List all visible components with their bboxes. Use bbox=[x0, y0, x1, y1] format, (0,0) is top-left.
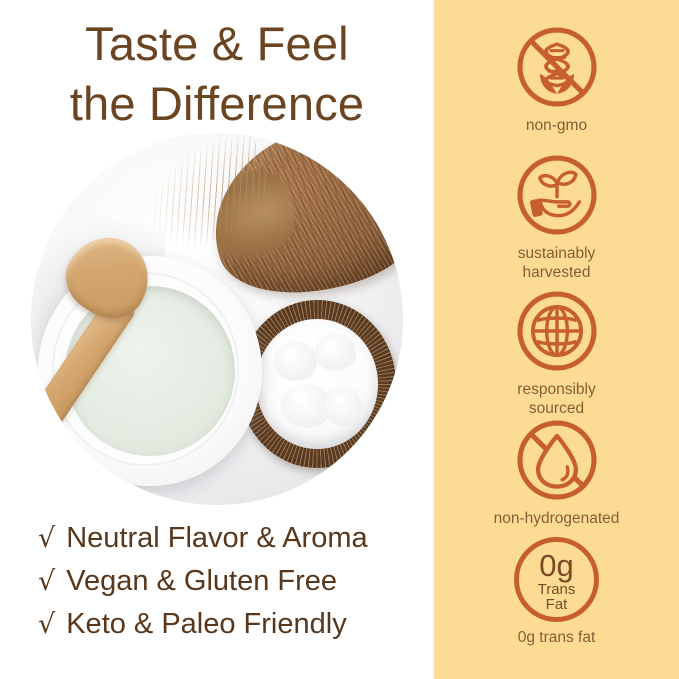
badge-non-gmo: non-gmo bbox=[434, 24, 679, 136]
trans-fat-line-2: Fat bbox=[519, 597, 594, 613]
badge-label: sustainably harvested bbox=[434, 245, 679, 283]
badge-zero-trans-fat: 0g Trans Fat 0g trans fat bbox=[434, 537, 679, 648]
oil-lump bbox=[315, 334, 356, 371]
page-title: Taste & Feel the Difference bbox=[0, 14, 434, 133]
checkmark-icon: √ bbox=[38, 611, 55, 638]
feature-label: Neutral Flavor & Aroma bbox=[66, 524, 367, 553]
infographic-page: Taste & Feel the Difference bbox=[0, 0, 679, 679]
oil-lump bbox=[274, 342, 318, 381]
badge-label: 0g trans fat bbox=[434, 629, 679, 648]
feature-label: Keto & Paleo Friendly bbox=[66, 610, 346, 639]
checkmark-icon: √ bbox=[38, 568, 55, 595]
list-item: √ Vegan & Gluten Free bbox=[38, 567, 434, 596]
badge-label: non-gmo bbox=[434, 117, 679, 136]
zero-trans-fat-icon: 0g Trans Fat bbox=[514, 537, 599, 622]
list-item: √ Keto & Paleo Friendly bbox=[38, 610, 434, 639]
headline-line-1: Taste & Feel bbox=[0, 14, 434, 74]
feature-label: Vegan & Gluten Free bbox=[66, 567, 337, 596]
badge-label: responsibly sourced bbox=[434, 381, 679, 419]
checkmark-icon: √ bbox=[38, 525, 55, 552]
badge-responsibly-sourced: responsibly sourced bbox=[434, 288, 679, 419]
feature-list: √ Neutral Flavor & Aroma √ Vegan & Glute… bbox=[38, 524, 434, 653]
product-photo bbox=[31, 133, 403, 505]
headline-line-2: the Difference bbox=[0, 74, 434, 134]
badge-label: non-hydrogenated bbox=[434, 510, 679, 529]
badge-non-hydrogenated: non-hydrogenated bbox=[434, 417, 679, 529]
certification-badge-panel: non-gmo sustainably harvested bbox=[434, 0, 679, 679]
no-droplet-icon bbox=[514, 417, 600, 503]
halved-coconut bbox=[239, 300, 395, 467]
hand-sprout-icon bbox=[514, 152, 600, 238]
left-content-panel: Taste & Feel the Difference bbox=[0, 0, 434, 679]
spoon-handle bbox=[31, 292, 138, 466]
trans-fat-amount: 0g bbox=[519, 550, 594, 581]
badge-sustainably-harvested: sustainably harvested bbox=[434, 152, 679, 283]
coconut-oil-in-shell bbox=[256, 319, 378, 450]
globe-icon bbox=[514, 288, 600, 374]
non-gmo-icon bbox=[514, 24, 600, 110]
list-item: √ Neutral Flavor & Aroma bbox=[38, 524, 434, 553]
oil-lump bbox=[324, 387, 363, 426]
